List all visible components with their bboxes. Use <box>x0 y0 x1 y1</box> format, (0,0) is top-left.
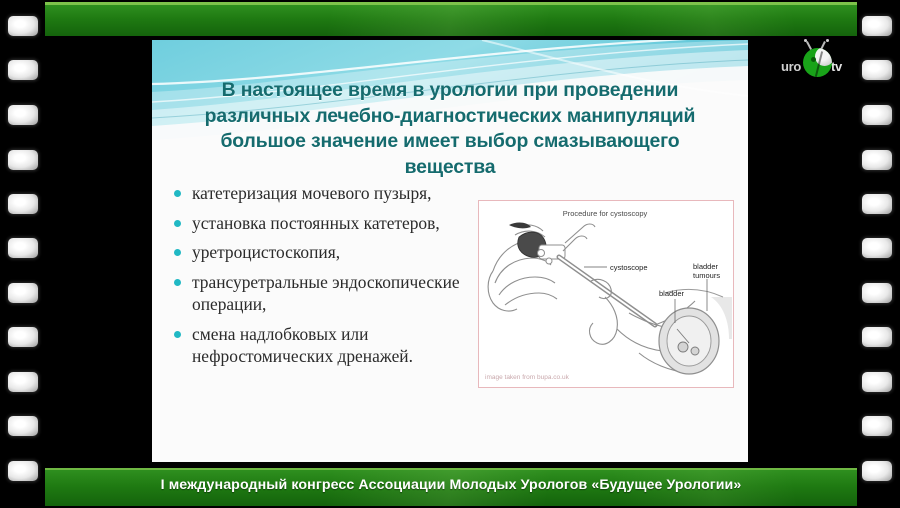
list-item: катетеризация мочевого пузыря, <box>168 182 468 205</box>
list-item-label: установка постоянных катетеров, <box>192 213 440 233</box>
list-item-label: катетеризация мочевого пузыря, <box>192 183 432 203</box>
list-item: уретроцистоскопия, <box>168 241 468 264</box>
urotv-logo: uro tv <box>781 42 853 84</box>
bullet-dot-icon <box>174 331 181 338</box>
label-bladder-tumours-line1: bladder <box>693 262 719 271</box>
figure-credit: image taken from bupa.co.uk <box>485 374 570 381</box>
congress-caption: I международный конгресс Ассоциации Моло… <box>45 477 857 493</box>
bullet-dot-icon <box>174 220 181 227</box>
list-item-label: уретроцистоскопия, <box>192 242 340 262</box>
list-item-label: смена надлобковых или нефростомических д… <box>192 324 413 367</box>
footer-band: I международный конгресс Ассоциации Моло… <box>45 468 857 506</box>
bullet-dot-icon <box>174 190 181 197</box>
list-item-label: трансуретральные эндоскопические операци… <box>192 272 460 315</box>
header-band-sheen <box>45 5 857 36</box>
beetle-antenna-tip-right-icon <box>826 39 829 42</box>
list-item: трансуретральные эндоскопические операци… <box>168 271 468 316</box>
bullet-dot-icon <box>174 279 181 286</box>
header-band <box>45 2 857 36</box>
label-cystoscope: cystoscope <box>610 263 648 272</box>
film-perforations-right <box>855 0 900 508</box>
list-item: установка постоянных катетеров, <box>168 212 468 235</box>
cystoscopy-figure: Procedure for cystoscopy <box>478 200 734 388</box>
bladder-illustration <box>659 308 719 374</box>
logo-text-tv: tv <box>831 59 842 74</box>
presentation-frame: I международный конгресс Ассоциации Моло… <box>0 0 900 508</box>
logo-text-uro: uro <box>781 59 801 74</box>
label-bladder: bladder <box>659 289 685 298</box>
label-bladder-tumours-line2: tumours <box>693 271 720 280</box>
slide-title: В настоящее время в урологии при проведе… <box>178 78 722 180</box>
beetle-eye-icon <box>811 57 816 62</box>
beetle-antenna-tip-left-icon <box>804 39 807 42</box>
beetle-icon <box>803 48 832 77</box>
film-perforations-left <box>0 0 45 508</box>
bullet-list: катетеризация мочевого пузыря, установка… <box>168 182 468 375</box>
list-item: смена надлобковых или нефростомических д… <box>168 323 468 368</box>
figure-title: Procedure for cystoscopy <box>563 209 648 218</box>
bullet-dot-icon <box>174 249 181 256</box>
slide: В настоящее время в урологии при проведе… <box>152 40 748 462</box>
